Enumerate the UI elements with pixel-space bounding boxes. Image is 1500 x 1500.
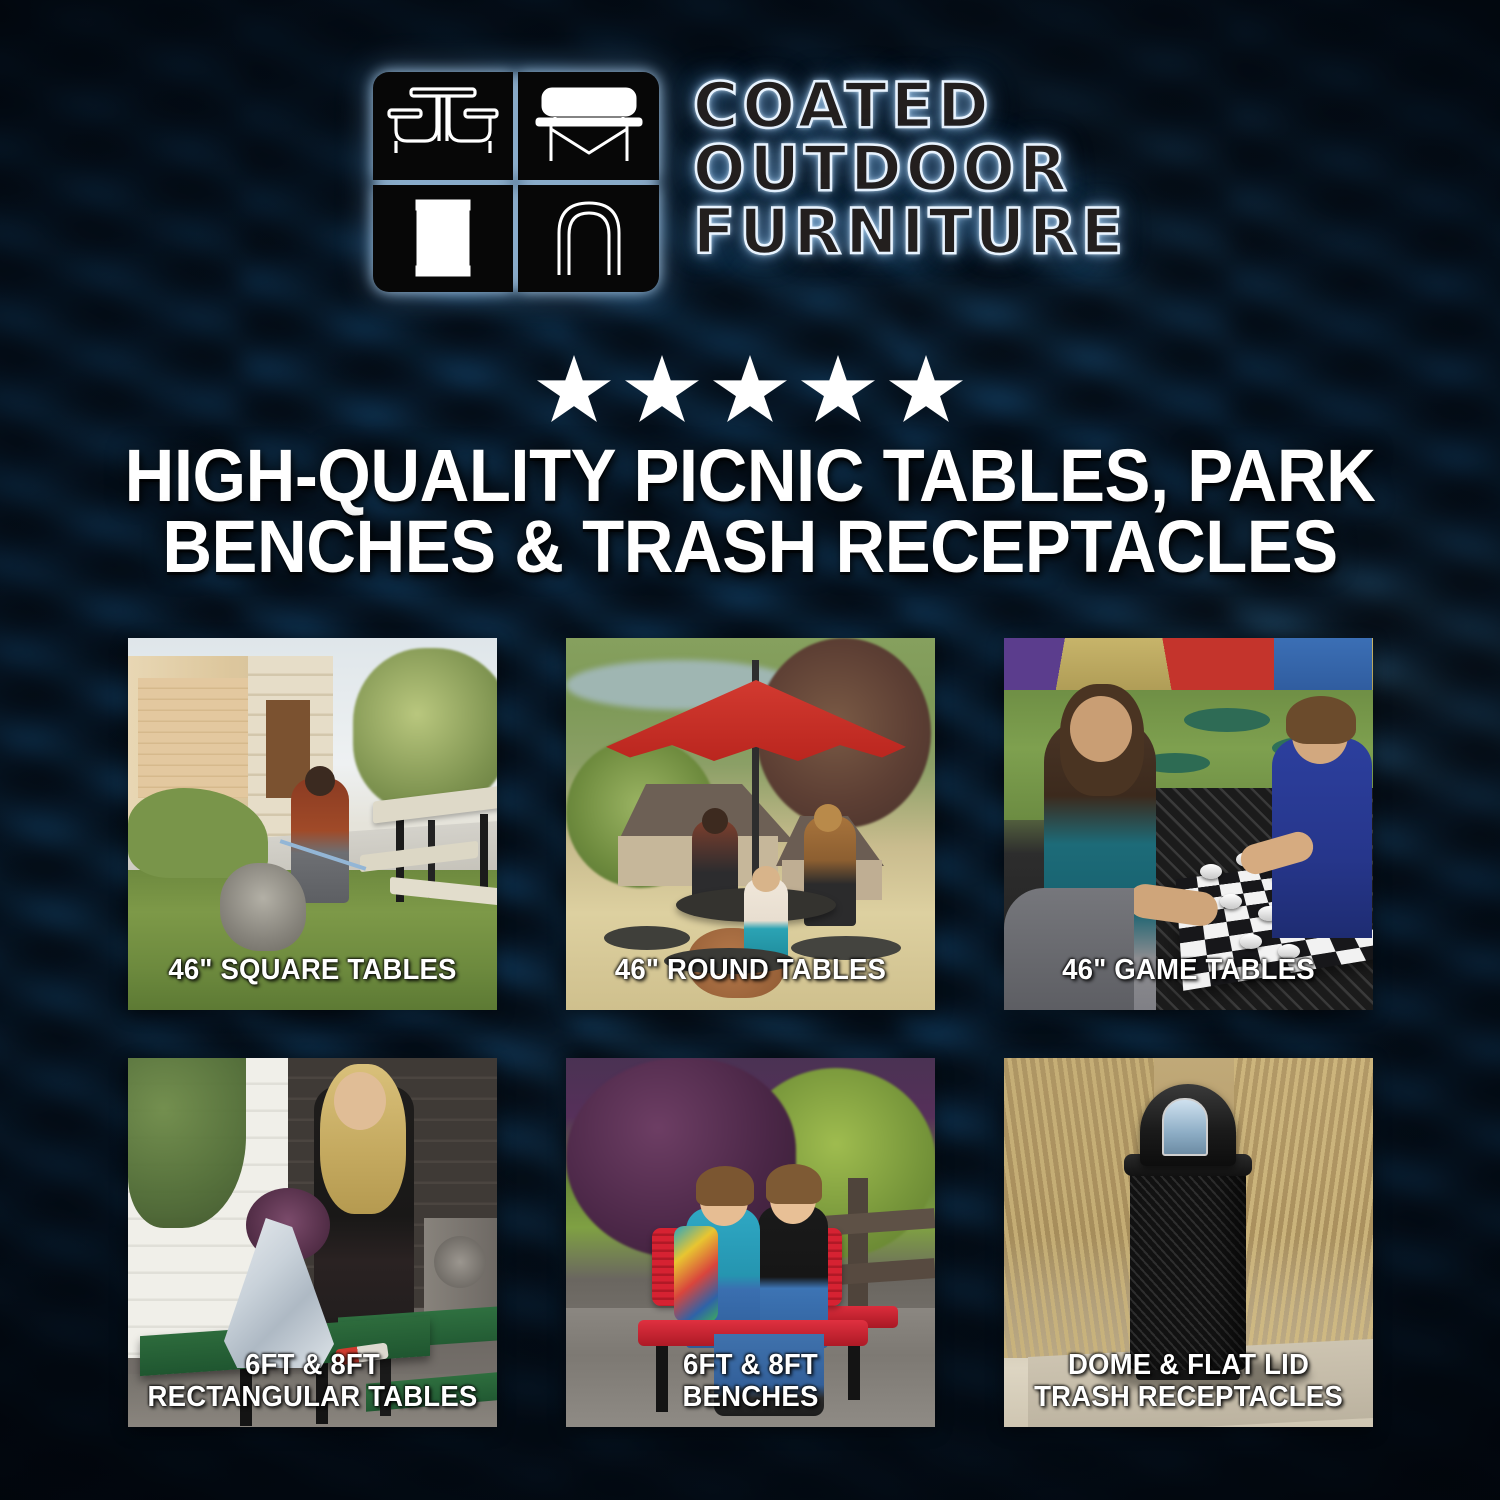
product-tile-trash-receptacles[interactable]: DOME & FLAT LID TRASH RECEPTACLES <box>1004 1058 1373 1427</box>
product-caption: 6FT & 8FT RECTANGULAR TABLES <box>137 1350 488 1413</box>
logo-icon-grid <box>373 72 659 292</box>
product-tile-benches[interactable]: 6FT & 8FT BENCHES <box>566 1058 935 1427</box>
product-caption: 46" SQUARE TABLES <box>137 955 488 986</box>
product-caption-line-1: 6FT & 8FT <box>137 1350 488 1381</box>
brand-name-line-1: COATED <box>693 76 1127 137</box>
star-icon <box>713 355 787 427</box>
headline-line-2: BENCHES & TRASH RECEPTACLES <box>53 511 1448 582</box>
marketing-poster: COATED OUTDOOR FURNITURE HIGH-QUALITY PI… <box>0 0 1500 1500</box>
brand-name-line-2: OUTDOOR <box>693 139 1127 200</box>
flat-lid-receptacle-icon <box>373 185 514 293</box>
product-caption-line-2: TRASH RECEPTACLES <box>1013 1382 1364 1413</box>
dome-lid-receptacle-icon <box>518 185 659 293</box>
product-tile-square-tables[interactable]: 46" SQUARE TABLES <box>128 638 497 1010</box>
star-icon <box>889 355 963 427</box>
product-caption: 6FT & 8FT BENCHES <box>575 1350 926 1413</box>
headline: HIGH-QUALITY PICNIC TABLES, PARK BENCHES… <box>53 440 1448 582</box>
headline-line-1: HIGH-QUALITY PICNIC TABLES, PARK <box>53 440 1448 511</box>
product-caption: 46" GAME TABLES <box>1013 955 1364 986</box>
product-caption-line-1: 46" SQUARE TABLES <box>137 955 488 986</box>
picnic-table-icon <box>373 72 514 180</box>
brand-name-line-3: FURNITURE <box>693 202 1127 263</box>
product-tile-round-tables[interactable]: 46" ROUND TABLES <box>566 638 935 1010</box>
product-caption-line-1: 46" ROUND TABLES <box>575 955 926 986</box>
product-caption: DOME & FLAT LID TRASH RECEPTACLES <box>1013 1350 1364 1413</box>
bench-icon <box>518 72 659 180</box>
product-tile-game-tables[interactable]: 46" GAME TABLES <box>1004 638 1373 1010</box>
product-caption-line-2: RECTANGULAR TABLES <box>137 1382 488 1413</box>
product-caption-line-1: DOME & FLAT LID <box>1013 1350 1364 1381</box>
product-tile-rectangular-tables[interactable]: 6FT & 8FT RECTANGULAR TABLES <box>128 1058 497 1427</box>
product-caption-line-1: 46" GAME TABLES <box>1013 955 1364 986</box>
star-icon <box>537 355 611 427</box>
star-icon <box>625 355 699 427</box>
brand-name: COATED OUTDOOR FURNITURE <box>693 72 1127 262</box>
brand-logo: COATED OUTDOOR FURNITURE <box>0 72 1500 292</box>
product-caption: 46" ROUND TABLES <box>575 955 926 986</box>
star-rating <box>0 355 1500 427</box>
product-caption-line-2: BENCHES <box>575 1382 926 1413</box>
product-caption-line-1: 6FT & 8FT <box>575 1350 926 1381</box>
star-icon <box>801 355 875 427</box>
product-grid: 46" SQUARE TABLES <box>128 638 1373 1427</box>
